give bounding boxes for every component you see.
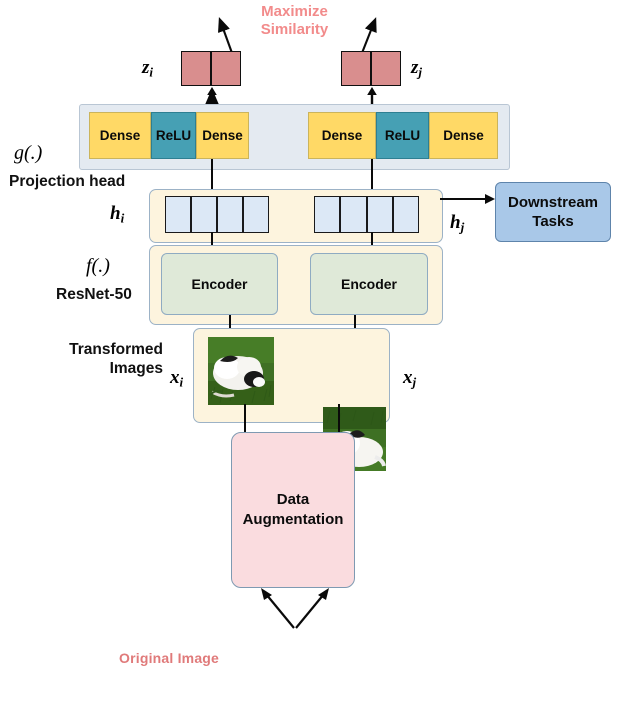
z-i-cell xyxy=(211,51,241,86)
h-i-cell xyxy=(191,196,217,233)
dense-block[interactable]: Dense xyxy=(308,112,376,159)
arrow-hj-to-downstream xyxy=(440,188,496,210)
projection-head-label: Projection head xyxy=(9,173,125,192)
original-image-label: Original Image xyxy=(119,650,219,667)
simclr-diagram: Maximize Similarity zi zj Dense ReLU D xyxy=(0,0,622,701)
transformed-images-label: Transformed Images xyxy=(48,341,163,379)
dense-block[interactable]: Dense xyxy=(196,112,249,159)
h-i-cell xyxy=(243,196,269,233)
g-function-label: g(.) xyxy=(14,142,42,165)
h-j-cell xyxy=(367,196,393,233)
z-i-vector xyxy=(181,51,241,86)
data-augmentation-box[interactable]: Data Augmentation xyxy=(231,432,355,588)
projection-head-right: Dense ReLU Dense xyxy=(308,112,498,159)
h-i-cell xyxy=(217,196,243,233)
f-function-label: f(.) xyxy=(86,255,110,278)
relu-block[interactable]: ReLU xyxy=(376,112,429,159)
h-j-cell xyxy=(314,196,340,233)
h-i-vector xyxy=(165,196,269,233)
dense-block[interactable]: Dense xyxy=(89,112,151,159)
z-j-cell xyxy=(341,51,371,86)
h-j-cell xyxy=(340,196,366,233)
z-j-vector xyxy=(341,51,401,86)
z-j-label: zj xyxy=(411,57,422,81)
downstream-tasks-box[interactable]: Downstream Tasks xyxy=(495,182,611,242)
h-i-label: hi xyxy=(110,203,124,227)
h-j-label: hj xyxy=(450,212,464,236)
z-i-cell xyxy=(181,51,211,86)
h-j-vector xyxy=(314,196,419,233)
connector-aug-to-xj xyxy=(338,404,340,434)
x-j-label: xj xyxy=(403,367,416,391)
resnet-label: ResNet-50 xyxy=(56,286,132,305)
connector-aug-to-xi xyxy=(244,404,246,434)
h-j-cell xyxy=(393,196,419,233)
relu-block[interactable]: ReLU xyxy=(151,112,196,159)
x-i-label: xi xyxy=(170,367,183,391)
dense-block[interactable]: Dense xyxy=(429,112,498,159)
z-j-cell xyxy=(371,51,401,86)
h-i-cell xyxy=(165,196,191,233)
z-i-label: zi xyxy=(142,57,153,81)
encoder-left[interactable]: Encoder xyxy=(161,253,278,315)
transformed-image-i xyxy=(208,337,274,405)
projection-head-left: Dense ReLU Dense xyxy=(89,112,249,159)
arrows-original-to-augmentation xyxy=(252,586,338,630)
encoder-right[interactable]: Encoder xyxy=(310,253,428,315)
